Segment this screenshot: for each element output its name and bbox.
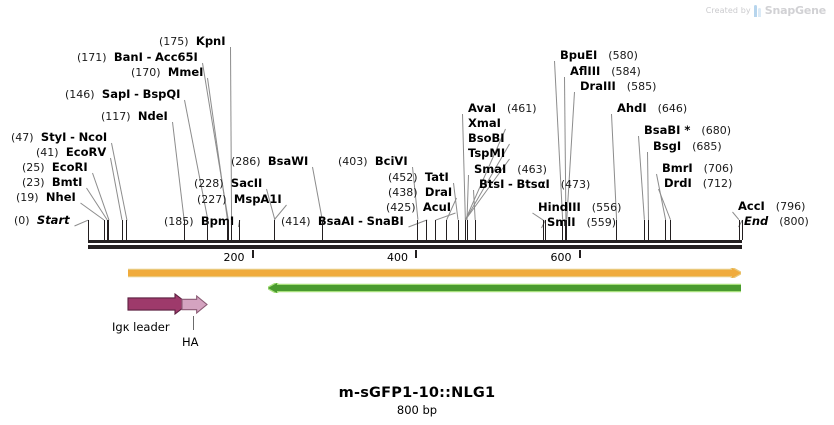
enzyme-label-afliii[interactable]: AflIII (584) <box>570 65 641 78</box>
page-title: m-sGFP1-10::NLG1 <box>0 385 834 401</box>
restriction-site-tick <box>566 220 567 240</box>
enzyme-label-start[interactable]: (0) Start <box>14 214 70 227</box>
restriction-site-tick <box>108 220 109 240</box>
enzyme-leader-line <box>647 152 649 220</box>
enzyme-label-btsi[interactable]: BtsI - BtsαI (473) <box>479 178 590 191</box>
enzyme-label-tati[interactable]: (452) TatI <box>388 171 449 184</box>
restriction-site-tick <box>417 220 418 240</box>
restriction-site-tick <box>475 220 476 240</box>
enzyme-label-drai[interactable]: (438) DraI <box>388 186 452 199</box>
restriction-site-tick <box>104 220 105 240</box>
enzyme-leader-line <box>462 114 466 220</box>
feature-label-igleader: Igκ leader <box>112 320 170 334</box>
enzyme-label-avai[interactable]: AvaI (461) <box>468 102 537 115</box>
enzyme-label-bani[interactable]: (171) BanI - Acc65I <box>77 51 198 64</box>
ruler-tick-label-600: 600 <box>551 251 572 264</box>
enzyme-label-acui[interactable]: (425) AcuI <box>386 201 451 214</box>
restriction-site-tick <box>322 220 323 240</box>
enzyme-label-mmei[interactable]: (170) MmeI <box>131 66 203 79</box>
snapgene-watermark: Created by SnapGene <box>706 4 826 17</box>
restriction-site-tick <box>543 220 544 240</box>
restriction-site-tick <box>126 220 127 240</box>
enzyme-label-bcivi[interactable]: (403) BciVI <box>338 155 408 168</box>
enzyme-leader-line <box>312 167 323 220</box>
restriction-site-tick <box>426 220 427 240</box>
restriction-site-tick <box>446 220 447 240</box>
ruler-tick-mark-400 <box>415 250 417 258</box>
enzyme-label-sapi[interactable]: (146) SapI - BspQI <box>65 88 180 101</box>
backbone-line-top <box>88 240 742 243</box>
enzyme-label-bsawi[interactable]: (286) BsaWI <box>231 155 308 168</box>
restriction-site-tick <box>274 220 275 240</box>
feature-label-ha: HA <box>182 335 199 349</box>
sequence-length-label: 800 bp <box>0 403 834 417</box>
enzyme-label-kpni[interactable]: (175) KpnI <box>159 35 226 48</box>
enzyme-label-bsobi[interactable]: BsoBI <box>468 132 505 144</box>
restriction-site-tick <box>458 220 459 240</box>
enzyme-label-tspmi[interactable]: TspMI <box>468 147 505 159</box>
enzyme-leader-line <box>638 136 645 220</box>
restriction-site-tick <box>742 220 743 240</box>
restriction-site-tick <box>545 220 546 240</box>
enzyme-label-bsgi[interactable]: BsgI (685) <box>653 140 722 153</box>
enzyme-label-ahdi[interactable]: AhdI (646) <box>617 102 687 115</box>
enzyme-label-bmri[interactable]: BmrI (706) <box>662 162 733 175</box>
enzyme-label-smli[interactable]: SmlI (559) <box>547 216 616 229</box>
enzyme-label-nhei[interactable]: (19) NheI <box>16 191 76 204</box>
snapgene-logo-icon <box>754 5 762 17</box>
feature-block-ha[interactable] <box>181 295 208 314</box>
backbone-line-bottom <box>88 245 742 249</box>
enzyme-label-end[interactable]: End (800) <box>744 215 809 228</box>
restriction-site-tick <box>670 220 671 240</box>
feature-arrow-forward[interactable] <box>128 268 741 278</box>
restriction-site-tick <box>435 220 436 240</box>
ruler-tick-label-400: 400 <box>387 251 408 264</box>
restriction-site-tick <box>207 220 208 240</box>
restriction-site-tick <box>648 220 649 240</box>
restriction-site-tick <box>616 220 617 240</box>
watermark-created-by-label: Created by <box>706 6 751 15</box>
enzyme-label-draiii[interactable]: DraIII (585) <box>580 80 656 93</box>
enzyme-label-sacii[interactable]: (228) SacII <box>194 177 262 190</box>
restriction-site-tick <box>644 220 645 240</box>
restriction-site-tick <box>88 220 89 240</box>
enzyme-label-ndei[interactable]: (117) NdeI <box>101 110 168 123</box>
ruler-tick-mark-200 <box>252 250 254 258</box>
feature-block-igleader[interactable] <box>127 293 189 315</box>
restriction-site-tick <box>184 220 185 240</box>
restriction-site-tick <box>739 220 740 240</box>
enzyme-leader-line <box>172 122 185 220</box>
enzyme-label-drdi[interactable]: DrdI (712) <box>664 177 732 190</box>
feature-arrow-reverse[interactable] <box>268 283 741 293</box>
ruler-tick-label-200: 200 <box>224 251 245 264</box>
restriction-site-tick <box>122 220 123 240</box>
enzyme-label-bpuei[interactable]: BpuEI (580) <box>560 49 638 62</box>
enzyme-leader-line <box>74 220 88 227</box>
enzyme-label-bsabi[interactable]: BsaBI * (680) <box>644 124 731 137</box>
enzyme-label-styi[interactable]: (47) StyI - NcoI <box>11 131 107 144</box>
enzyme-leader-line <box>554 61 563 220</box>
enzyme-label-bpmi[interactable]: (185) BpmI <box>164 215 234 228</box>
enzyme-label-mspa1i[interactable]: (227) MspA1I <box>197 193 282 206</box>
enzyme-label-bmti[interactable]: (23) BmtI <box>22 176 82 189</box>
restriction-site-tick <box>228 220 229 240</box>
enzyme-label-ecorv[interactable]: (41) EcoRV <box>36 146 106 159</box>
sequence-map-canvas: Created by SnapGene (0) Start(19) NheI(2… <box>0 0 834 425</box>
ruler-tick-mark-600 <box>579 250 581 258</box>
enzyme-label-smai[interactable]: SmaI (463) <box>474 163 547 176</box>
feature-label-stem <box>193 316 194 330</box>
restriction-site-tick <box>562 220 563 240</box>
enzyme-leader-line <box>564 77 566 220</box>
restriction-site-tick <box>231 220 232 240</box>
watermark-brand-label: SnapGene <box>765 4 826 17</box>
restriction-site-tick <box>665 220 666 240</box>
enzyme-label-acci[interactable]: AccI (796) <box>738 200 805 213</box>
enzyme-label-ecori[interactable]: (25) EcoRI <box>22 161 88 174</box>
enzyme-label-hindiii[interactable]: HindIII (556) <box>538 201 621 214</box>
restriction-site-tick <box>239 220 240 240</box>
enzyme-label-xmai[interactable]: XmaI <box>468 117 501 129</box>
restriction-site-tick <box>467 220 468 240</box>
enzyme-label-bsaai[interactable]: (414) BsaAI - SnaBI <box>281 215 404 228</box>
